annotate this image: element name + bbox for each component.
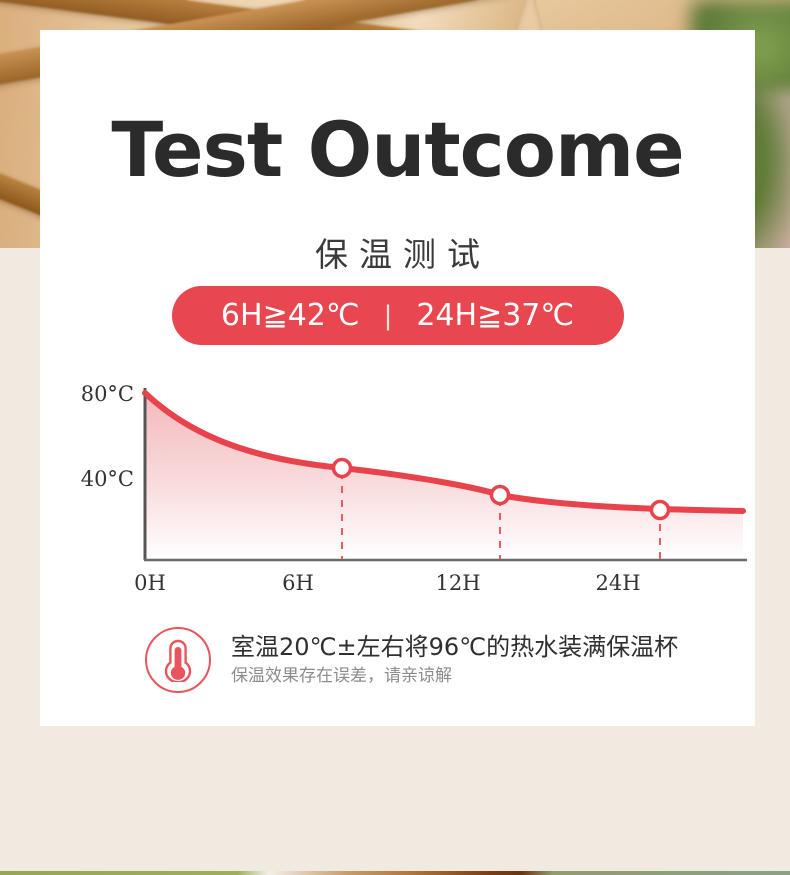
x-tick-24h: 24H — [595, 571, 640, 595]
temperature-chart — [85, 350, 755, 600]
content-card: Test Outcome 保温测试 6H≧42℃ | 24H≧37℃ 80°C … — [40, 30, 755, 726]
x-tick-0h: 0H — [134, 571, 166, 595]
badge-claim-24h: 24H≧37℃ — [416, 298, 574, 333]
chart-svg — [85, 350, 755, 600]
chart-area-fill — [145, 393, 743, 560]
page-subtitle: 保温测试 — [40, 228, 755, 276]
thermometer-icon — [145, 627, 211, 693]
test-condition-note: 室温20℃±左右将96℃的热水装满保温杯 保温效果存在误差，请亲谅解 — [145, 627, 678, 693]
claims-badge: 6H≧42℃ | 24H≧37℃ — [172, 286, 624, 345]
page-root: Test Outcome 保温测试 6H≧42℃ | 24H≧37℃ 80°C … — [0, 0, 790, 875]
x-axis-labels: 0H 6H 12H 24H — [40, 571, 755, 601]
bottom-photo-strip — [0, 871, 790, 875]
thermometer-glyph — [160, 638, 196, 682]
badge-separator: | — [374, 301, 403, 331]
data-point-24h — [652, 502, 669, 519]
data-point-12h — [492, 487, 509, 504]
x-tick-6h: 6H — [282, 571, 314, 595]
note-text-block: 室温20℃±左右将96℃的热水装满保温杯 保温效果存在误差，请亲谅解 — [231, 634, 678, 686]
badge-row: 6H≧42℃ | 24H≧37℃ — [40, 286, 755, 345]
note-primary-text: 室温20℃±左右将96℃的热水装满保温杯 — [231, 634, 678, 660]
badge-claim-6h: 6H≧42℃ — [221, 298, 360, 333]
data-point-6h — [334, 460, 351, 477]
note-secondary-text: 保温效果存在误差，请亲谅解 — [231, 667, 678, 686]
x-tick-12h: 12H — [435, 571, 480, 595]
page-title: Test Outcome — [40, 112, 755, 188]
